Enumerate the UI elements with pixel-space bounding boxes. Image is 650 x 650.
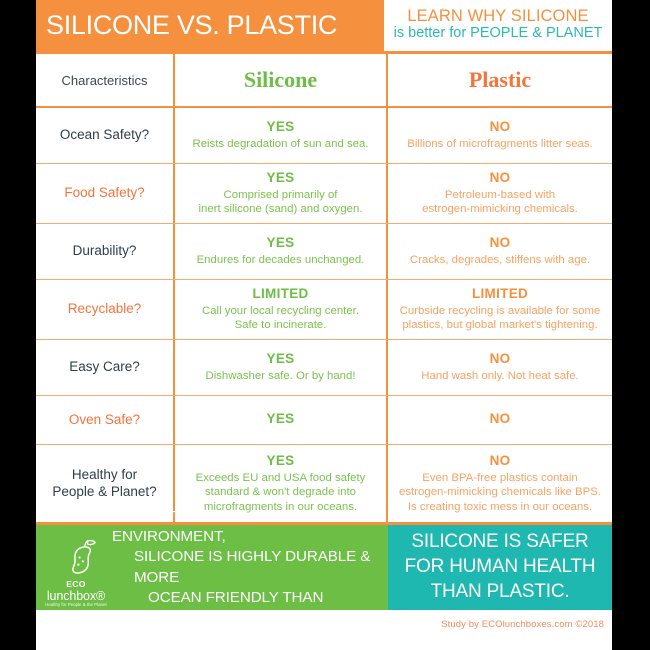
row-label: Food Safety? xyxy=(64,185,144,202)
plastic-description: Billions of microfragments litter seas. xyxy=(407,137,592,152)
ecolunchbox-logo: ECO lunchbox® Healthy for People & the P… xyxy=(40,528,112,608)
study-credit: Study by ECOlunchboxes.com ©2018 xyxy=(441,619,604,630)
teal-conclusion-banner: SILICONE IS SAFER FOR HUMAN HEALTH THAN … xyxy=(388,525,612,610)
column-header-characteristics: Characteristics xyxy=(36,54,175,106)
silicone-verdict: YES xyxy=(267,170,295,187)
row-label: Recyclable? xyxy=(68,301,142,318)
row-label-cell: Ocean Safety? xyxy=(36,108,175,163)
table-row: Recyclable? LIMITED Call your local recy… xyxy=(36,280,612,340)
plastic-verdict: NO xyxy=(490,119,511,136)
plastic-verdict: NO xyxy=(490,351,511,368)
silicone-verdict: YES xyxy=(267,119,295,136)
silicone-cell: YES xyxy=(175,396,388,444)
header-subtitle-secondary: is better for PEOPLE & PLANET xyxy=(394,25,603,42)
table-row: Ocean Safety? YES Reists degradation of … xyxy=(36,108,612,164)
row-label-cell: Recyclable? xyxy=(36,280,175,339)
header-subtitle-block: LEARN WHY SILICONE is better for PEOPLE … xyxy=(384,0,612,51)
infographic-page: SILICONE VS. PLASTIC LEARN WHY SILICONE … xyxy=(0,0,650,650)
teal-banner-text: SILICONE IS SAFER FOR HUMAN HEALTH THAN … xyxy=(405,530,596,604)
table-row: Food Safety? YES Comprised primarily ofi… xyxy=(36,164,612,224)
row-label: Healthy forPeople & Planet? xyxy=(52,467,156,501)
row-label: Durability? xyxy=(73,243,137,260)
column-header-plastic: Plastic xyxy=(388,54,612,106)
silicone-verdict: YES xyxy=(267,411,295,428)
plastic-verdict: NO xyxy=(490,235,511,252)
green-conclusion-banner: ECO lunchbox® Healthy for People & the P… xyxy=(36,525,388,610)
plastic-cell: NO Cracks, degrades, stiffens with age. xyxy=(388,224,612,279)
silicone-verdict: YES xyxy=(267,235,295,252)
column-header-silicone: Silicone xyxy=(175,54,388,106)
table-header-row: Characteristics Silicone Plastic xyxy=(36,54,612,108)
row-label-cell: Easy Care? xyxy=(36,340,175,395)
silicone-cell: YES Endures for decades unchanged. xyxy=(175,224,388,279)
column-header-silicone-label: Silicone xyxy=(244,67,317,93)
silicone-verdict: YES xyxy=(267,351,295,368)
plastic-cell: NO Petroleum-based withestrogen-mimickin… xyxy=(388,164,612,223)
silicone-cell: YES Dishwasher safe. Or by hand! xyxy=(175,340,388,395)
row-label: Easy Care? xyxy=(69,359,140,376)
silicone-description: Reists degradation of sun and sea. xyxy=(192,137,368,152)
logo-wordmark: ECO lunchbox® Healthy for People & the P… xyxy=(45,575,107,608)
footer-banners: ECO lunchbox® Healthy for People & the P… xyxy=(36,525,612,610)
row-label: Ocean Safety? xyxy=(60,127,149,144)
row-label-cell: Food Safety? xyxy=(36,164,175,223)
plastic-verdict: NO xyxy=(490,170,511,187)
logo-lunchbox-text: lunchbox® xyxy=(45,590,107,603)
row-label: Oven Safe? xyxy=(69,412,140,429)
silicone-description: Dishwasher safe. Or by hand! xyxy=(205,369,355,384)
table-row: Easy Care? YES Dishwasher safe. Or by ha… xyxy=(36,340,612,396)
plastic-description: Hand wash only. Not heat safe. xyxy=(421,369,578,384)
plastic-cell: NO xyxy=(388,396,612,444)
plastic-description: Curbside recycling is available for some… xyxy=(400,304,601,333)
logo-tagline: Healthy for People & the Planet xyxy=(45,603,107,607)
table-row: Durability? YES Endures for decades unch… xyxy=(36,224,612,280)
header-subtitle-primary: LEARN WHY SILICONE xyxy=(407,7,588,25)
plastic-cell: NO Billions of microfragments litter sea… xyxy=(388,108,612,163)
plastic-description: Petroleum-based withestrogen-mimicking c… xyxy=(422,188,578,217)
silicone-cell: LIMITED Call your local recycling center… xyxy=(175,280,388,339)
silicone-description: Call your local recycling center.Safe to… xyxy=(202,304,359,333)
teal-banner-line-2: FOR HUMAN HEALTH xyxy=(405,555,596,580)
plastic-description: Even BPA-free plastics containestrogen-m… xyxy=(399,471,601,515)
silicone-verdict: LIMITED xyxy=(252,286,308,303)
plastic-description: Cracks, degrades, stiffens with age. xyxy=(410,253,590,268)
plastic-verdict: NO xyxy=(490,453,511,470)
silicone-description: Endures for decades unchanged. xyxy=(197,253,365,268)
row-label-cell: Durability? xyxy=(36,224,175,279)
infographic-sheet: SILICONE VS. PLASTIC LEARN WHY SILICONE … xyxy=(36,0,612,650)
pear-icon xyxy=(48,538,104,574)
header: SILICONE VS. PLASTIC LEARN WHY SILICONE … xyxy=(36,0,612,51)
table-row: Oven Safe? YES NO xyxy=(36,396,612,445)
teal-banner-line-1: SILICONE IS SAFER xyxy=(405,530,596,555)
plastic-verdict: NO xyxy=(490,411,511,428)
silicone-description: Comprised primarily ofinert silicone (sa… xyxy=(199,188,363,217)
logo-eco-text: ECO xyxy=(66,579,86,589)
column-header-plastic-label: Plastic xyxy=(469,67,531,93)
plastic-cell: NO Even BPA-free plastics containestroge… xyxy=(388,445,612,522)
row-label-cell: Oven Safe? xyxy=(36,396,175,444)
green-banner-line-2: SILICONE IS HIGHLY DURABLE & MORE xyxy=(112,547,380,587)
column-header-characteristics-label: Characteristics xyxy=(62,73,148,88)
silicone-cell: YES Reists degradation of sun and sea. xyxy=(175,108,388,163)
silicone-cell: YES Comprised primarily ofinert silicone… xyxy=(175,164,388,223)
comparison-table: Characteristics Silicone Plastic Ocean S… xyxy=(36,51,612,525)
page-title: SILICONE VS. PLASTIC xyxy=(46,12,337,39)
plastic-cell: NO Hand wash only. Not heat safe. xyxy=(388,340,612,395)
green-banner-line-1: WHEN IT COMES TO THE ENVIRONMENT, xyxy=(112,507,380,547)
header-title-band: SILICONE VS. PLASTIC xyxy=(36,0,384,51)
plastic-cell: LIMITED Curbside recycling is available … xyxy=(388,280,612,339)
green-banner-line-3: OCEAN FRIENDLY THAN PLASTIC. xyxy=(112,588,380,628)
silicone-verdict: YES xyxy=(267,453,295,470)
teal-banner-line-3: THAN PLASTIC. xyxy=(405,580,596,605)
plastic-verdict: LIMITED xyxy=(472,286,528,303)
green-banner-text: WHEN IT COMES TO THE ENVIRONMENT, SILICO… xyxy=(112,507,380,627)
